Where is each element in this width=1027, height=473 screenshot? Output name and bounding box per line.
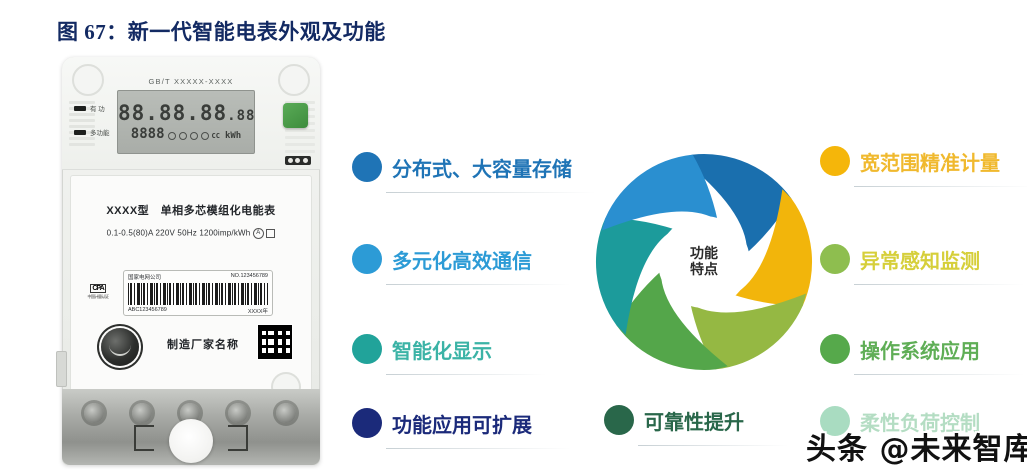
feature-bullet-icon [820, 146, 850, 176]
barcode-label-bottom-row: ABC123456789 XXXX年 [128, 307, 268, 315]
led-row-multifunction: 多功能 [74, 127, 110, 137]
infrared-port-icon [285, 156, 311, 165]
manufacturer-name: 制造厂家名称 [167, 336, 239, 352]
barcode-number: NO.123456789 [231, 273, 268, 281]
feature-label: 可靠性提升 [644, 406, 744, 435]
led-bar-icon [74, 130, 86, 135]
barcode-label: 国家电网公司 NO.123456789 ABC123456789 XXXX年 [123, 270, 273, 316]
feature-item-anomaly-monitoring: 异常感知监测 [820, 244, 980, 274]
feature-label: 宽范围精准计量 [860, 147, 1000, 176]
feature-underline [386, 374, 546, 375]
terminal-cover-seal [169, 419, 213, 463]
pinwheel-center-label: 功能 特点 [690, 246, 718, 278]
feature-item-wide-range-metering: 宽范围精准计量 [820, 146, 1000, 176]
lcd-main-digits: 88.88.88.88 [118, 103, 254, 124]
certification-mark-text: 中国计量认证 [88, 294, 109, 300]
lcd-indicator-icon-1 [168, 132, 176, 140]
class2-insulation-icon [266, 229, 275, 238]
lcd-main-value: 88.88.88 [118, 101, 227, 125]
lcd-sub-digits: 8888 [131, 127, 165, 141]
led-label-active-power: 有 功 [90, 103, 105, 113]
meter-spec-text: 0.1-0.5(80)A 220V 50Hz 1200imp/kWh [107, 229, 251, 238]
led-row-active-power: 有 功 [74, 103, 105, 113]
feature-underline [854, 186, 1027, 187]
barcode-code: ABC123456789 [128, 307, 167, 315]
barcode-stripes [128, 283, 268, 305]
manufacturer-logo-icon [101, 328, 139, 366]
meter-terminal-block [62, 389, 320, 465]
meter-side-tab [56, 351, 67, 387]
feature-bullet-icon [820, 244, 850, 274]
barcode-company: 国家电网公司 [128, 273, 161, 281]
feature-underline [386, 448, 571, 449]
led-label-multifunction: 多功能 [90, 127, 110, 137]
feature-label: 功能应用可扩展 [392, 409, 532, 438]
feature-label: 异常感知监测 [860, 245, 980, 274]
standard-code: GB/T XXXXX-XXXX [62, 77, 320, 86]
barcode-label-top-row: 国家电网公司 NO.123456789 [128, 273, 268, 281]
pinwheel-diagram: 功能 特点 [592, 150, 816, 374]
feature-label: 多元化高效通信 [392, 245, 532, 274]
watermark: 头条 @未来智库 [806, 424, 1027, 468]
feature-item-operating-system: 操作系统应用 [820, 334, 980, 364]
meter-top-panel: GB/T XXXXX-XXXX 88.88.88.88 8888 CC kWh [62, 57, 320, 170]
terminal-screw [228, 403, 248, 423]
feature-underline [854, 284, 1024, 285]
page-title: 图 67：新一代智能电表外观及功能 [57, 16, 386, 46]
terminal-screw [132, 403, 152, 423]
feature-item-efficient-communication: 多元化高效通信 [352, 244, 532, 274]
accuracy-class-icon: A [253, 228, 264, 239]
smart-meter-image: GB/T XXXXX-XXXX 88.88.88.88 8888 CC kWh [62, 57, 320, 465]
pinwheel-center-line2: 特点 [690, 262, 718, 278]
lcd-unit-label: kWh [225, 132, 241, 141]
lcd-indicator-icon-2 [179, 132, 187, 140]
lcd-indicator-icon-4 [201, 132, 209, 140]
feature-bullet-icon [352, 408, 382, 438]
lcd-cc-label: CC [212, 133, 220, 140]
lcd-sub-row: 8888 CC kWh [118, 127, 254, 141]
feature-item-smart-display: 智能化显示 [352, 334, 492, 364]
feature-label: 操作系统应用 [860, 335, 980, 364]
terminal-bracket-left [134, 425, 154, 451]
barcode-year: XXXX年 [248, 307, 268, 315]
meter-model-name: XXXX型 单相多芯模组化电能表 [71, 202, 311, 218]
lcd-main-decimals: .88 [227, 108, 255, 124]
terminal-bracket-right [228, 425, 248, 451]
feature-underline [638, 445, 788, 446]
feature-bullet-icon [352, 244, 382, 274]
feature-label: 智能化显示 [392, 335, 492, 364]
lcd-indicator-icon-3 [190, 132, 198, 140]
feature-underline [854, 374, 1024, 375]
feature-bullet-icon [352, 152, 382, 182]
feature-underline [386, 284, 571, 285]
lcd-display: 88.88.88.88 8888 CC kWh [117, 90, 255, 154]
led-bar-icon [74, 106, 86, 111]
feature-item-reliability-improvement: 可靠性提升 [604, 405, 744, 435]
feature-bullet-icon [604, 405, 634, 435]
certification-mark: CPA 中国计量认证 [85, 281, 111, 303]
meter-green-button[interactable] [283, 103, 308, 128]
terminal-screw [84, 403, 104, 423]
meter-specification: 0.1-0.5(80)A 220V 50Hz 1200imp/kWh A [71, 228, 311, 239]
qr-code-icon [257, 324, 293, 360]
certification-mark-code: CPA [90, 284, 105, 293]
feature-label: 分布式、大容量存储 [392, 153, 572, 182]
feature-item-distributed-storage: 分布式、大容量存储 [352, 152, 572, 182]
pinwheel-center-line1: 功能 [690, 246, 718, 262]
feature-underline [386, 192, 596, 193]
terminal-screw [276, 403, 296, 423]
feature-bullet-icon [352, 334, 382, 364]
feature-bullet-icon [820, 334, 850, 364]
figure-page: 图 67：新一代智能电表外观及功能 GB/T XXXXX-XXXX 88.88.… [0, 0, 1027, 473]
feature-item-extensible-applications: 功能应用可扩展 [352, 408, 532, 438]
